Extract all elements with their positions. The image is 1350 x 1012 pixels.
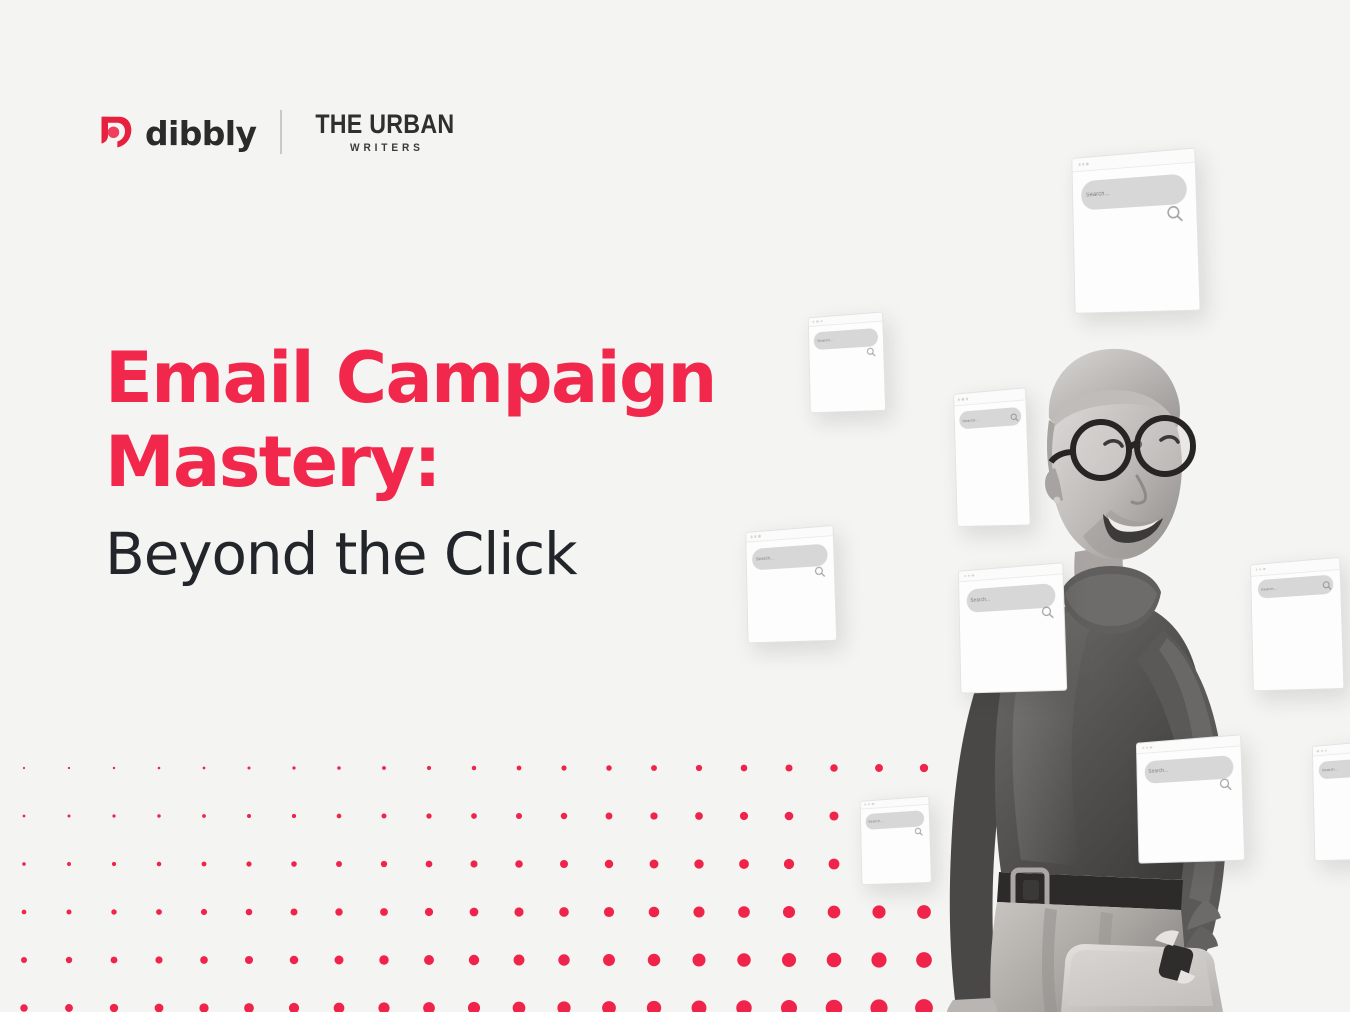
search-icon[interactable] — [1165, 203, 1185, 224]
headline-line-1: Email Campaign — [105, 336, 805, 420]
search-placeholder-text: Search... — [1148, 768, 1168, 775]
window-dot-icon — [872, 803, 874, 805]
card-body: Search... — [1313, 751, 1350, 861]
window-dot-icon — [1078, 163, 1080, 165]
lockup-divider — [280, 110, 282, 154]
search-placeholder-text: Search... — [817, 337, 834, 343]
search-icon[interactable] — [913, 826, 923, 837]
window-dot-icon — [972, 574, 974, 576]
card-body: Search... — [1137, 746, 1244, 862]
window-dot-icon — [1150, 746, 1152, 748]
search-placeholder-text: Search... — [1086, 191, 1110, 199]
search-window-card[interactable]: Search... — [860, 796, 932, 886]
headline-block: Email Campaign Mastery: Beyond the Click — [105, 336, 805, 592]
window-dot-icon — [964, 575, 966, 577]
dibbly-wordmark: dibbly — [145, 117, 256, 150]
window-dot-icon — [1321, 749, 1323, 751]
window-dot-icon — [816, 320, 818, 322]
search-icon[interactable] — [813, 564, 826, 578]
search-placeholder-text: Search... — [970, 597, 990, 604]
card-body: Search... — [1073, 163, 1200, 313]
window-dot-icon — [868, 803, 870, 805]
search-placeholder-text: Search... — [868, 819, 883, 824]
slide-canvas: dibbly THE URBAN WRITERS Email Campaign … — [0, 0, 1350, 1012]
search-icon[interactable] — [1040, 605, 1055, 621]
search-window-card[interactable]: Search... — [1312, 739, 1350, 861]
search-window-card[interactable]: Search... — [1136, 734, 1245, 863]
window-dot-icon — [1082, 163, 1084, 165]
search-window-card[interactable]: Search... — [1071, 147, 1200, 313]
tuw-line-2: WRITERS — [346, 143, 423, 154]
window-dot-icon — [968, 575, 970, 577]
dibbly-d-mark — [98, 114, 134, 150]
search-placeholder-text: Search... — [1322, 766, 1339, 772]
search-icon[interactable] — [866, 346, 877, 358]
card-body: Search... — [959, 575, 1066, 693]
window-dot-icon — [1146, 746, 1148, 748]
window-dot-icon — [864, 803, 866, 805]
search-window-card[interactable]: Search... — [958, 562, 1067, 693]
headline-subtitle: Beyond the Click — [105, 516, 805, 592]
window-dot-icon — [1325, 749, 1327, 751]
window-dot-icon — [820, 320, 822, 322]
tuw-line-1: THE URBAN — [315, 111, 454, 138]
search-icon[interactable] — [1321, 579, 1332, 591]
window-dot-icon — [1317, 750, 1319, 752]
window-dot-icon — [1086, 163, 1088, 165]
card-body: Search... — [861, 804, 931, 884]
window-dot-icon — [1142, 747, 1144, 749]
headline-line-2: Mastery: — [105, 420, 805, 504]
brand-lockup[interactable]: dibbly THE URBAN WRITERS — [98, 108, 466, 156]
the-urban-writers-logo: THE URBAN WRITERS — [304, 111, 466, 154]
card-body: Search... — [809, 321, 885, 412]
search-input[interactable]: Search... — [1319, 756, 1350, 779]
search-window-card[interactable]: Search... — [808, 311, 886, 413]
window-dot-icon — [812, 320, 814, 322]
search-icon[interactable] — [1218, 776, 1233, 792]
